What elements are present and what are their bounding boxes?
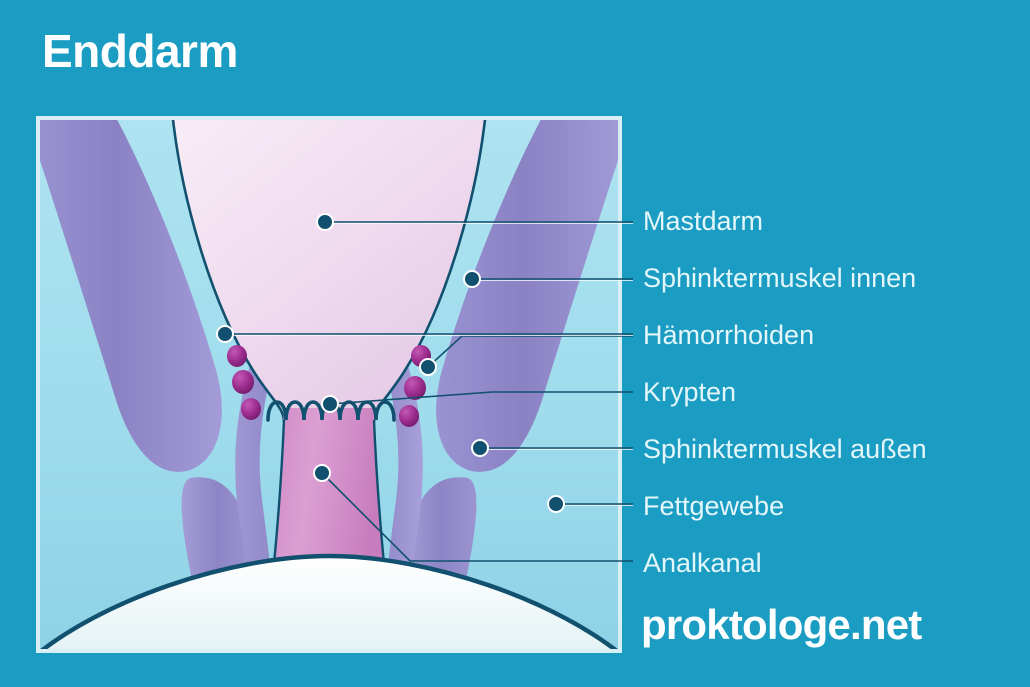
hemorrhoid-nodule: [411, 345, 431, 367]
hemorrhoid-nodule: [404, 376, 426, 400]
brand-wordmark: proktologe.net: [641, 604, 921, 646]
label-mastdarm: Mastdarm: [643, 208, 763, 235]
label-krypten: Krypten: [643, 379, 736, 406]
label-haemorrhoiden: Hämorrhoiden: [643, 322, 814, 349]
hemorrhoid-nodule: [241, 398, 261, 420]
anatomy-illustration-frame: [36, 116, 622, 653]
label-sphinktermuskel-aussen: Sphinktermuskel außen: [643, 436, 927, 463]
hemorrhoid-nodule: [232, 370, 254, 394]
label-fettgewebe: Fettgewebe: [643, 493, 784, 520]
anatomy-illustration: [40, 120, 618, 649]
label-analkanal: Analkanal: [643, 550, 762, 577]
label-sphinktermuskel-innen: Sphinktermuskel innen: [643, 265, 916, 292]
anal-canal: [274, 408, 384, 562]
poster-root: Enddarm: [0, 0, 1030, 687]
page-title: Enddarm: [42, 28, 238, 74]
hemorrhoid-nodule: [227, 345, 247, 367]
hemorrhoid-nodule: [399, 405, 419, 427]
